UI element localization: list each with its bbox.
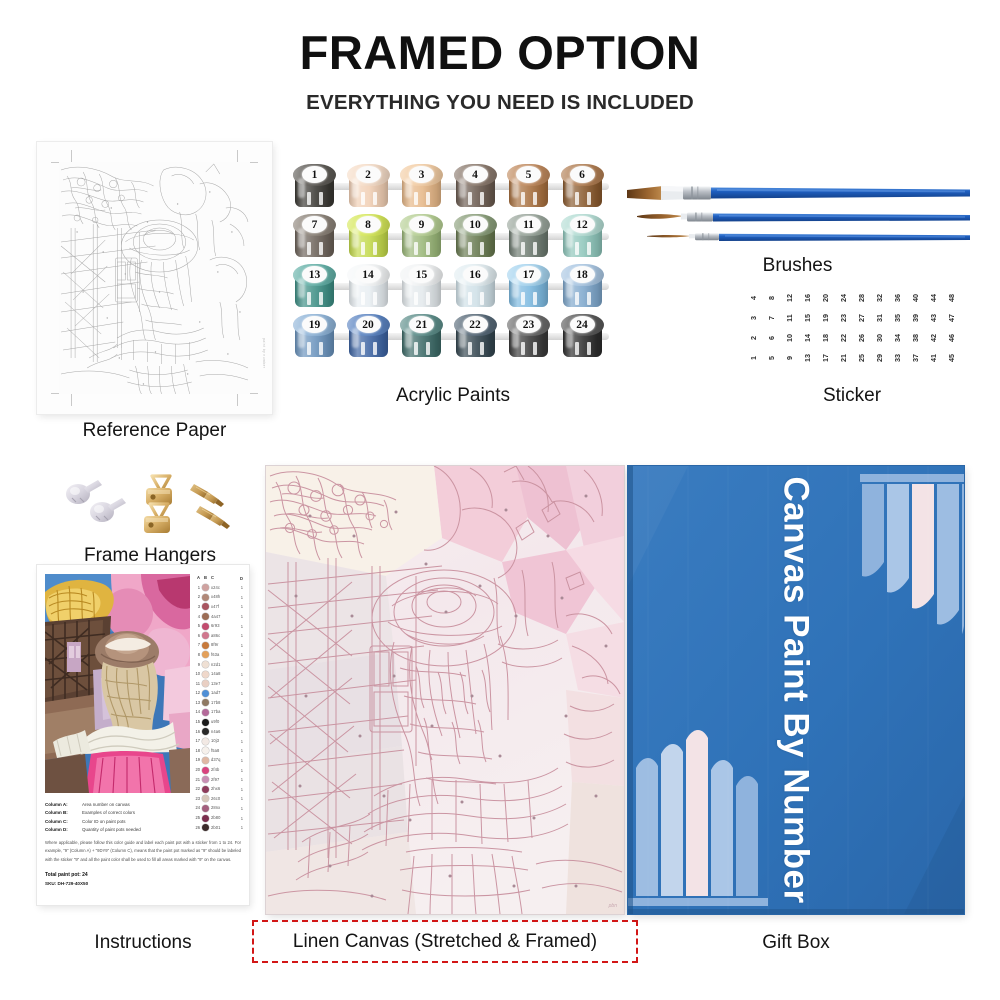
legend-row: 121ad71 [190,689,244,699]
legend-quantity: 1 [241,806,243,811]
paint-pot-groove [373,242,377,255]
legend-color-code: 13e7 [211,682,221,686]
sticker-number-grid: 4321876512111091615141320191817242322212… [744,288,960,368]
acrylic-paints-group: 123456789101112131415161718192021222324 [293,163,613,363]
legend-color-swatch [202,642,209,649]
legend-row: 19d37q1 [190,756,244,766]
paint-pot-groove [373,342,377,355]
sticker-number[interactable]: 16 [797,289,817,307]
sticker-number[interactable]: 2 [743,329,763,347]
paint-pot-groove [533,192,537,205]
legend-color-code: 14a8 [211,672,221,676]
instructions-text-block: Column A:Area number on canvasColumn B:E… [45,801,241,888]
sticker-number[interactable]: 47 [941,309,961,327]
gift-box: Canvas Paint By Number [628,466,964,914]
legend-row: 56r931 [190,621,244,631]
legend-area-number: 18 [191,749,200,753]
instructions-column-line: Column D:Quantity of paint pots needed [45,826,241,834]
caption-frame-hangers: Frame Hangers [40,545,260,567]
paint-pot-21[interactable]: 21 [400,314,443,358]
sticker-number[interactable]: 31 [869,309,889,327]
legend-color-swatch [202,747,209,754]
sticker-number[interactable]: 14 [797,329,817,347]
paint-pot-groove [480,192,484,205]
paint-pot-number: 1 [293,164,336,186]
sticker-number[interactable]: 22 [833,329,853,347]
paint-pot-14[interactable]: 14 [347,264,390,308]
legend-area-number: 22 [191,787,200,791]
sticker-number[interactable]: 39 [905,309,925,327]
caption-reference-paper: Reference Paper [37,420,272,442]
instructions-column-line: Column C:Color ID on paint pots [45,818,241,826]
paint-pot-number: 8 [347,214,390,236]
sku-value: DH-729-40X50 [58,881,89,886]
paint-pot-row: 192021222324 [293,313,613,359]
paint-pot-groove [319,342,323,355]
sticker-number[interactable]: 9 [779,349,799,367]
legend-quantity: 1 [241,787,243,792]
paint-pot-24[interactable]: 24 [561,314,604,358]
paint-pot-groove [521,192,525,205]
linen-canvas: pbn [266,466,624,914]
paint-pot-groove [426,242,430,255]
paint-pot-groove [468,342,472,355]
paint-pot-22[interactable]: 22 [454,314,497,358]
legend-row: 3x47f1 [190,602,244,612]
instructions-column-text: Area number on canvas [82,801,130,809]
legend-quantity: 1 [241,739,243,744]
legend-quantity: 1 [241,748,243,753]
legend-area-number: 9 [191,663,200,667]
paint-pot-groove [521,292,525,305]
legend-quantity: 1 [241,595,243,600]
legend-row: 16n4a61 [190,727,244,737]
sticker-number[interactable]: 43 [923,309,943,327]
paint-pot-groove [361,192,365,205]
paint-pot-2[interactable]: 2 [347,164,390,208]
page-title: FRAMED OPTION [0,28,1000,77]
legend-header-B: B [202,576,209,580]
legend-area-number: 20 [191,768,200,772]
instructions-column-label: Column C: [45,818,76,826]
legend-row: 212f971 [190,775,244,785]
legend-quantity: 1 [241,652,243,657]
canvas-signature: pbn [609,903,617,909]
legend-color-code: x47f [211,605,219,609]
legend-row: 2x48h1 [190,593,244,603]
sticker-number[interactable]: 18 [815,329,835,347]
legend-color-swatch [202,584,209,591]
paint-pot-groove [414,192,418,205]
sticker-number[interactable]: 45 [941,349,961,367]
paint-pot-groove [575,292,579,305]
legend-color-swatch [202,613,209,620]
header: FRAMED OPTION EVERYTHING YOU NEED IS INC… [0,28,1000,115]
legend-color-code: f63a [211,653,219,657]
paint-pot-groove [533,292,537,305]
legend-area-number: 10 [191,672,200,676]
legend-quantity: 1 [241,729,243,734]
legend-color-code: a86c [211,634,220,638]
paint-pot-groove [480,342,484,355]
paint-pot-18[interactable]: 18 [561,264,604,308]
sticker-number[interactable]: 36 [887,289,907,307]
paint-pot-groove [587,342,591,355]
paint-pot-groove [319,192,323,205]
paint-pot-row: 789101112 [293,213,613,259]
sticker-number[interactable]: 6 [761,329,781,347]
paint-pot-12[interactable]: 12 [561,214,604,258]
paint-pot-groove [307,292,311,305]
sticker-number[interactable]: 5 [761,349,781,367]
legend-row: 1014a81 [190,669,244,679]
sticker-number[interactable]: 42 [923,329,943,347]
paint-pot-3[interactable]: 3 [400,164,443,208]
instructions-sheet: ABCD1x24c12x48h13x47f144a47156r9316a86c1… [37,565,249,905]
sticker-number[interactable]: 17 [815,349,835,367]
legend-area-number: 13 [191,701,200,705]
legend-color-swatch [202,757,209,764]
legend-color-swatch [202,661,209,668]
sticker-number[interactable]: 41 [923,349,943,367]
paint-pot-15[interactable]: 15 [400,264,443,308]
paint-pot-4[interactable]: 4 [454,164,497,208]
legend-quantity: 1 [241,720,243,725]
caption-gift-box: Gift Box [628,932,964,954]
legend-color-code: f5a8 [211,749,219,753]
paint-pot-5[interactable]: 5 [507,164,550,208]
instructions-sku-row: SKU: DH-729-40X50 [45,880,241,888]
paint-pot-groove [426,292,430,305]
reference-artwork [59,162,250,394]
legend-color-swatch [202,651,209,658]
instructions-total-row: Total paint pot: 24 [45,871,241,880]
paint-pot-groove [426,342,430,355]
sticker-number[interactable]: 15 [797,309,817,327]
frame-hangers-group [58,468,248,540]
legend-area-number: 1 [191,586,200,590]
paint-pot-number: 23 [507,314,550,336]
paint-pot-row: 123456 [293,163,613,209]
sticker-number[interactable]: 46 [941,329,961,347]
paint-pot-groove [373,292,377,305]
legend-color-swatch [202,738,209,745]
sticker-number[interactable]: 32 [869,289,889,307]
legend-quantity: 1 [241,604,243,609]
paint-pot-13[interactable]: 13 [293,264,336,308]
legend-quantity: 1 [241,816,243,821]
sticker-number[interactable]: 29 [869,349,889,367]
legend-quantity: 1 [241,825,243,830]
paint-pot-number: 16 [454,264,497,286]
legend-color-swatch [202,776,209,783]
legend-color-swatch [202,709,209,716]
total-value: 24 [82,872,88,878]
legend-color-code: 10j3 [211,739,219,743]
legend-row: 1710j31 [190,737,244,747]
paint-pot-groove [521,242,525,255]
legend-area-number: 14 [191,710,200,714]
paint-pot-groove [361,242,365,255]
legend-color-code: 2hx6 [211,787,220,791]
caption-brushes: Brushes [625,255,970,277]
paint-pot-11[interactable]: 11 [507,214,550,258]
legend-color-code: 17b8 [211,701,221,705]
paint-pot-number: 21 [400,314,443,336]
legend-quantity: 1 [241,624,243,629]
paint-pot-20[interactable]: 20 [347,314,390,358]
legend-color-swatch [202,671,209,678]
caption-acrylic-paints: Acrylic Paints [293,385,613,407]
instructions-column-key: Column A:Area number on canvasColumn B:E… [45,801,241,834]
legend-row: 202f4b1 [190,765,244,775]
legend-area-number: 8 [191,653,200,657]
legend-quantity: 1 [241,691,243,696]
legend-color-swatch [202,786,209,793]
instructions-column-label: Column D: [45,826,76,834]
legend-row: 1317b81 [190,698,244,708]
legend-header-D: D [240,576,243,581]
paint-pot-groove [426,192,430,205]
sticker-number[interactable]: 4 [743,289,763,307]
crop-mark [237,393,238,406]
legend-color-swatch [202,699,209,706]
total-label: Total paint pot: [45,872,81,878]
paint-pot-groove [533,342,537,355]
paint-pot-7[interactable]: 7 [293,214,336,258]
legend-color-code: x48h [211,595,220,599]
paint-pot-number: 6 [561,164,604,186]
instructions-column-label: Column B: [45,809,76,817]
paint-pot-groove [521,342,525,355]
legend-area-number: 16 [191,730,200,734]
paint-pot-number: 7 [293,214,336,236]
sticker-number[interactable]: 28 [851,289,871,307]
legend-color-code: 6r93 [211,624,220,628]
legend-quantity: 1 [241,614,243,619]
paint-pot-groove [414,342,418,355]
sticker-number[interactable]: 34 [887,329,907,347]
legend-quantity: 1 [241,758,243,763]
sticker-number[interactable]: 1 [743,349,763,367]
paint-pot-groove [533,242,537,255]
paint-pot-19[interactable]: 19 [293,314,336,358]
legend-color-swatch [202,767,209,774]
paint-pot-number: 11 [507,214,550,236]
sticker-number[interactable]: 27 [851,309,871,327]
paint-pot-groove [319,242,323,255]
legend-color-swatch [202,632,209,639]
legend-color-swatch [202,623,209,630]
sticker-number[interactable]: 12 [779,289,799,307]
sticker-number[interactable]: 20 [815,289,835,307]
paint-pot-groove [480,292,484,305]
paint-pot-groove [587,292,591,305]
legend-color-code: 4a47 [211,615,221,619]
legend-row: 18f5a81 [190,746,244,756]
paint-pot-8[interactable]: 8 [347,214,390,258]
paint-pot-9[interactable]: 9 [400,214,443,258]
paint-pot-number: 20 [347,314,390,336]
legend-color-code: 1ad7 [211,691,221,695]
reference-paper: paint by number [37,142,272,414]
crop-mark [71,393,72,406]
sticker-number[interactable]: 24 [833,289,853,307]
paint-pot-groove [480,242,484,255]
paint-pot-groove [307,342,311,355]
paint-pot-groove [307,242,311,255]
legend-color-swatch [202,680,209,687]
instructions-color-legend: ABCD1x24c12x48h13x47f144a47156r9316a86c1… [190,574,244,824]
page-subtitle: EVERYTHING YOU NEED IS INCLUDED [0,91,1000,115]
paint-pot-groove [575,342,579,355]
legend-quantity: 1 [241,672,243,677]
sticker-number[interactable]: 33 [887,349,907,367]
paint-pot-groove [468,192,472,205]
sticker-number[interactable]: 21 [833,349,853,367]
legend-area-number: 5 [191,624,200,628]
sticker-sheet: 4321876512111091615141320191817242322212… [744,288,960,368]
reference-watermark: paint by number [262,338,266,368]
legend-area-number: 19 [191,758,200,762]
paint-pot-groove [361,292,365,305]
paint-pot-6[interactable]: 6 [561,164,604,208]
sticker-number[interactable]: 48 [941,289,961,307]
paint-pot-groove [414,292,418,305]
paint-pot-row: 131415161718 [293,263,613,309]
legend-area-number: 12 [191,691,200,695]
instructions-column-text: Examples of correct colors [82,809,135,817]
legend-quantity: 1 [241,710,243,715]
legend-color-code: 2f97 [211,778,219,782]
legend-color-swatch [202,603,209,610]
sku-label: SKU: [45,881,56,886]
instructions-paragraph: Where applicable, please follow this col… [45,839,241,864]
paint-pot-number: 5 [507,164,550,186]
paint-pot-number: 10 [454,214,497,236]
legend-color-code: 8f9r [211,643,218,647]
sticker-number[interactable]: 7 [761,309,781,327]
sticker-number[interactable]: 37 [905,349,925,367]
paint-pot-number: 15 [400,264,443,286]
legend-color-code: x24c [211,586,220,590]
legend-color-code: u9f0 [211,720,219,724]
instructions-artwork [45,574,190,793]
paint-pot-groove [575,192,579,205]
paint-pot-1[interactable]: 1 [293,164,336,208]
legend-quantity: 1 [241,700,243,705]
legend-quantity: 1 [241,777,243,782]
sticker-number[interactable]: 35 [887,309,907,327]
legend-area-number: 7 [191,643,200,647]
paint-pot-groove [468,242,472,255]
legend-area-number: 6 [191,634,200,638]
paint-pot-groove [587,242,591,255]
legend-color-swatch [202,728,209,735]
legend-color-code: d37q [211,758,221,762]
sticker-number[interactable]: 13 [797,349,817,367]
legend-quantity: 1 [241,662,243,667]
legend-color-swatch [202,719,209,726]
legend-quantity: 1 [241,796,243,801]
sticker-number[interactable]: 25 [851,349,871,367]
legend-color-code: n2d1 [211,663,221,667]
paint-pot-23[interactable]: 23 [507,314,550,358]
sticker-number[interactable]: 3 [743,309,763,327]
paint-pot-number: 13 [293,264,336,286]
paint-pot-groove [373,192,377,205]
paint-pot-groove [468,292,472,305]
sticker-number[interactable]: 23 [833,309,853,327]
paint-pot-16[interactable]: 16 [454,264,497,308]
legend-quantity: 1 [241,643,243,648]
paint-pot-groove [414,242,418,255]
sticker-number[interactable]: 40 [905,289,925,307]
instructions-column-line: Column A:Area number on canvas [45,801,241,809]
sticker-number[interactable]: 10 [779,329,799,347]
paint-pot-number: 17 [507,264,550,286]
paint-pot-number: 3 [400,164,443,186]
paint-pot-groove [361,342,365,355]
paint-pot-number: 24 [561,314,604,336]
paint-pot-number: 14 [347,264,390,286]
legend-quantity: 1 [241,585,243,590]
caption-sticker: Sticker [744,385,960,407]
legend-color-code: 17ba [211,710,221,714]
legend-area-number: 4 [191,615,200,619]
legend-color-code: 2f4b [211,768,219,772]
legend-area-number: 2 [191,595,200,599]
legend-row: 8f63a1 [190,650,244,660]
sticker-number[interactable]: 19 [815,309,835,327]
legend-area-number: 17 [191,739,200,743]
legend-quantity: 1 [241,768,243,773]
legend-area-number: 15 [191,720,200,724]
caption-instructions: Instructions [37,932,249,954]
legend-quantity: 1 [241,633,243,638]
instructions-column-line: Column B:Examples of correct colors [45,809,241,817]
legend-color-swatch [202,690,209,697]
paint-pot-number: 19 [293,314,336,336]
legend-row: 15u9f01 [190,717,244,727]
paint-pot-10[interactable]: 10 [454,214,497,258]
legend-area-number: 21 [191,778,200,782]
legend-row: 1x24c1 [190,583,244,593]
sticker-number[interactable]: 44 [923,289,943,307]
legend-header-row: ABCD [190,574,244,583]
sticker-number[interactable]: 8 [761,289,781,307]
instructions-column-text: Quantity of paint pots needed [82,826,141,834]
instructions-column-label: Column A: [45,801,76,809]
legend-area-number: 11 [191,682,200,686]
legend-row: 78f9r1 [190,641,244,651]
caption-linen-canvas: Linen Canvas (Stretched & Framed) [252,931,638,953]
sticker-number[interactable]: 26 [851,329,871,347]
legend-row: 44a471 [190,612,244,622]
legend-row: 6a86c1 [190,631,244,641]
paint-pot-17[interactable]: 17 [507,264,550,308]
sticker-number[interactable]: 38 [905,329,925,347]
instructions-column-text: Color ID on paint pots [82,818,126,826]
paint-pot-groove [307,192,311,205]
legend-area-number: 3 [191,605,200,609]
legend-color-code: n4a6 [211,730,221,734]
sticker-number[interactable]: 30 [869,329,889,347]
sticker-number[interactable]: 11 [779,309,799,327]
paint-pot-number: 2 [347,164,390,186]
paint-pot-number: 12 [561,214,604,236]
legend-color-swatch [202,594,209,601]
